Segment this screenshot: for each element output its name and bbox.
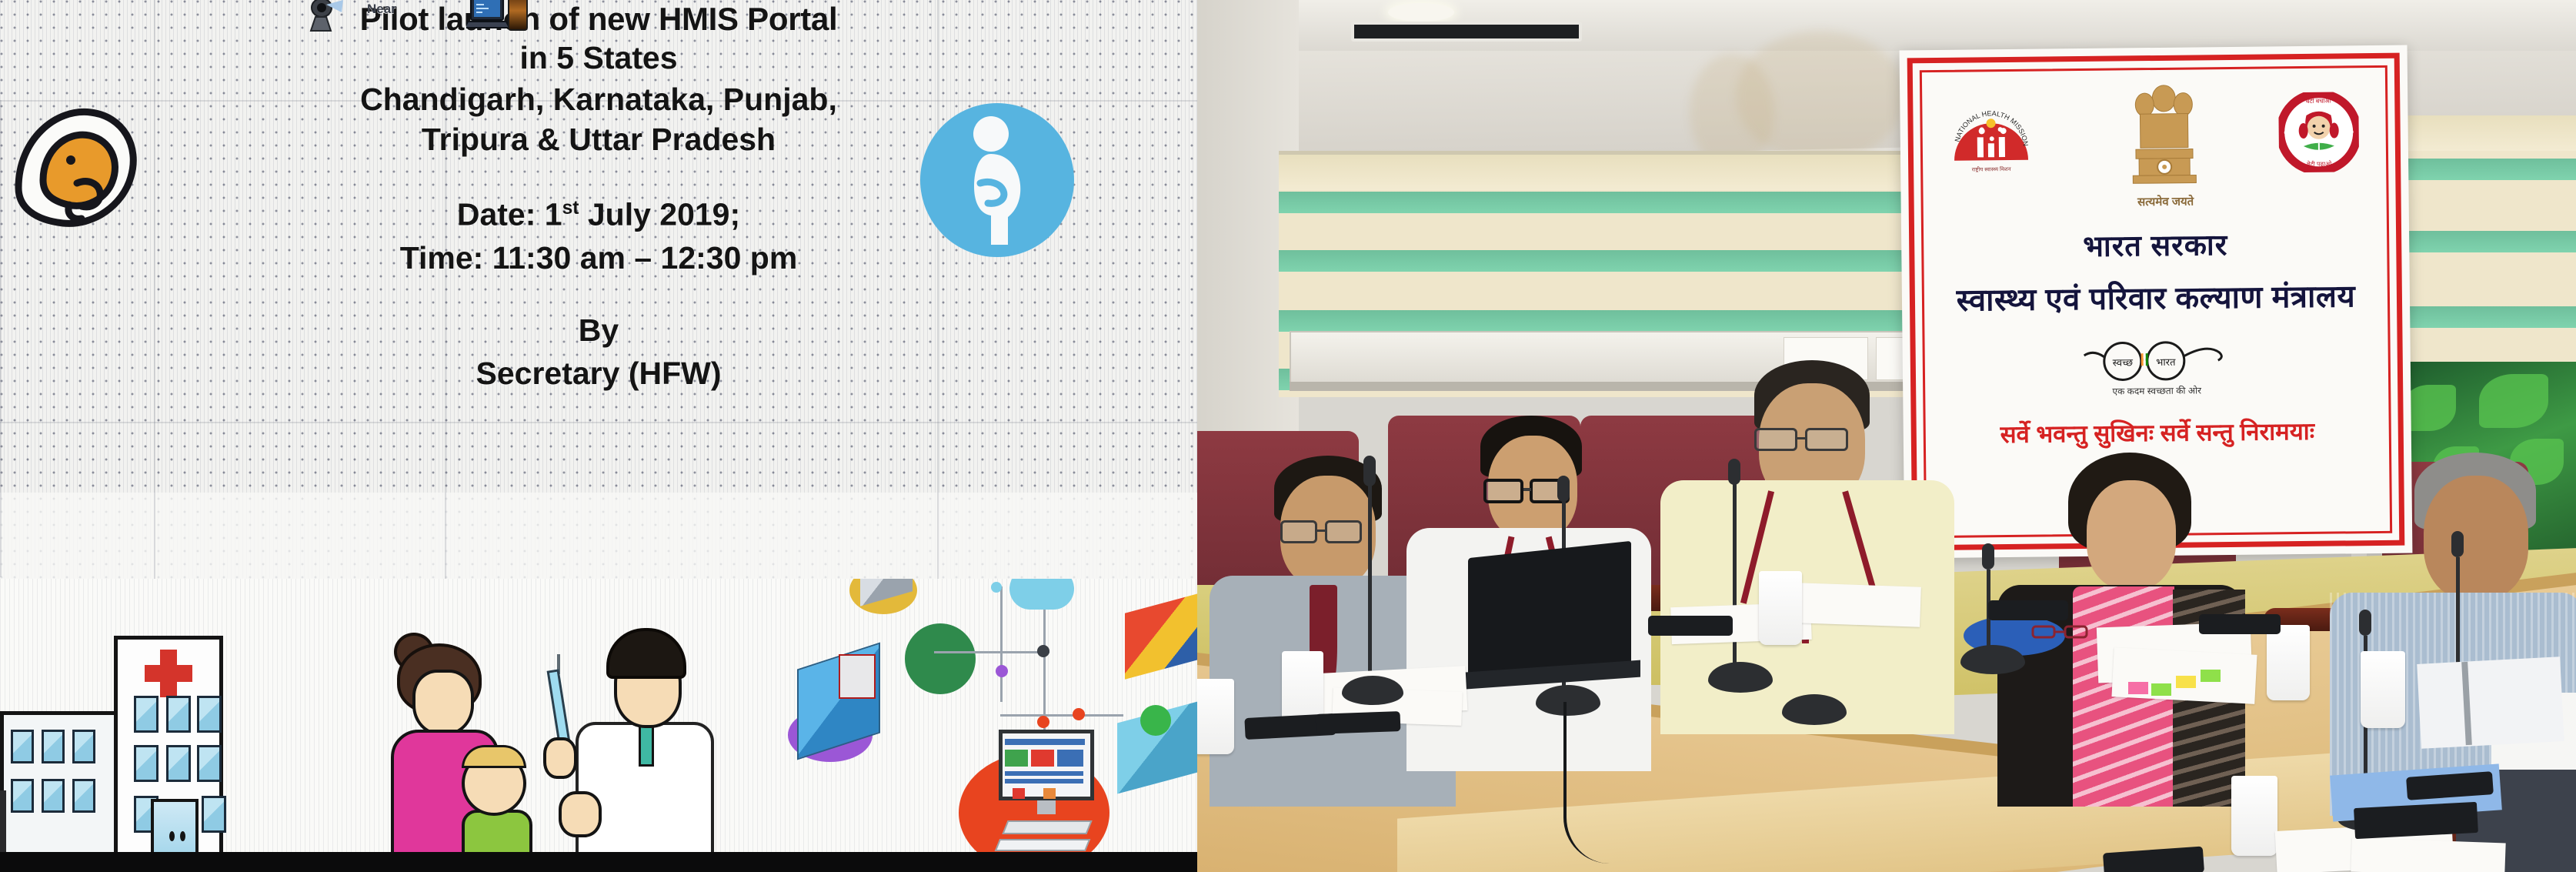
cloud-icon <box>1009 579 1074 610</box>
banner-shloka: सर्वे भवन्तु सुखिनः सर्वे सन्तु निरामयाः <box>1934 414 2381 451</box>
svg-text:राष्ट्रीय स्वास्थ्य मिशन: राष्ट्रीय स्वास्थ्य मिशन <box>1972 165 2011 173</box>
clipboard-icon <box>839 654 876 699</box>
microphone-base <box>1342 676 1403 705</box>
svg-text:बेटी पढ़ाओ: बेटी पढ़ाओ <box>2307 160 2332 168</box>
paper-cup <box>2361 651 2405 728</box>
swachh-bharat-logo: स्वच्छ भारत एक कदम स्वच्छता की ओर <box>1933 325 2380 414</box>
remote-control <box>2354 802 2478 839</box>
slide-by-person: Secretary (HFW) <box>0 356 1197 391</box>
printed-papers <box>1797 583 1921 627</box>
phone-icon <box>508 0 528 31</box>
slide-states-line1: Chandigarh, Karnataka, Punjab, <box>0 82 1197 117</box>
slide-text-block: Pilot launch of new HMIS Portal in 5 Sta… <box>0 0 1197 391</box>
microphone-stem <box>2456 557 2460 667</box>
microphone-head <box>1982 543 1994 570</box>
screen-seam <box>0 422 1197 423</box>
slide-date-line: Date: 1st July 2019; <box>0 191 1197 232</box>
mobile-phone <box>2199 614 2281 634</box>
laptop-icon <box>466 0 508 31</box>
screen-bottom-band <box>0 852 1197 872</box>
paper-cup <box>1759 571 1802 645</box>
national-health-mission-logo: राष्ट्रीय स्वास्थ्य मिशन NATIONAL HEALTH… <box>1947 94 2034 181</box>
ceiling-light <box>1388 3 1454 22</box>
banner-heading-government: भारत सरकार <box>1932 222 2379 267</box>
microphone-cable <box>1563 702 1671 864</box>
spiral-notebook <box>2417 657 2564 749</box>
banner-logo-row: राष्ट्रीय स्वास्थ्य मिशन NATIONAL HEALTH… <box>1930 76 2378 195</box>
microphone-head <box>2359 610 2371 636</box>
microphone-head <box>2451 531 2464 557</box>
svg-text:भारत: भारत <box>2156 356 2176 368</box>
svg-text:बेटी बचाओ: बेटी बचाओ <box>2306 97 2332 105</box>
eyeglasses <box>2031 623 2090 640</box>
slide-states-line2: Tripura & Uttar Pradesh <box>0 122 1197 157</box>
screenshot-root: Near Pilot launch of new HMIS Portal in … <box>0 0 2576 872</box>
microphone-stem <box>1733 483 1737 673</box>
near-label: Near <box>367 2 396 17</box>
mother-figure <box>412 670 474 736</box>
iso-green-disc <box>905 623 976 694</box>
spectacles-icon: स्वच्छ भारत <box>2079 332 2234 382</box>
state-emblem-of-india <box>2121 81 2207 197</box>
microphone-head <box>1728 459 1740 485</box>
slide-illustration <box>0 579 1197 872</box>
slide-by-label: By <box>0 312 1197 348</box>
doctor-hand <box>543 737 577 779</box>
microphone-stem <box>1368 483 1372 687</box>
webcam-icon <box>303 0 345 32</box>
microphone-base <box>1960 645 2025 674</box>
slide-title-line2: in 5 States <box>0 40 1197 75</box>
slide-time-line: Time: 11:30 am – 12:30 pm <box>0 240 1197 276</box>
keyboard-icon <box>1002 820 1092 834</box>
air-conditioner-vent <box>1351 22 1582 42</box>
printed-papers <box>2351 838 2505 872</box>
microphone-head <box>1557 476 1570 502</box>
red-cross-symbol <box>145 665 192 682</box>
presentation-slide-panel: Near Pilot launch of new HMIS Portal in … <box>0 0 1197 872</box>
date-superscript: st <box>562 198 579 219</box>
mobile-phone <box>1316 711 1401 734</box>
svg-text:स्वच्छ: स्वच्छ <box>2113 356 2134 368</box>
date-suffix: July 2019; <box>579 197 740 232</box>
conference-room-photo: राष्ट्रीय स्वास्थ्य मिशन NATIONAL HEALTH… <box>1197 0 2576 872</box>
paper-cup <box>1197 679 1234 754</box>
emblem-motto: सत्यमेव जयते <box>2111 193 2221 210</box>
slide-title-line1: Pilot launch of new HMIS Portal <box>0 0 1197 37</box>
paper-cup <box>2231 776 2277 856</box>
mobile-phone <box>1648 616 1733 636</box>
paper-cup <box>2267 625 2310 700</box>
doctor-hand <box>559 791 602 837</box>
banner-heading-ministry: स्वास्थ्य एवं परिवार कल्याण मंत्रालय <box>1933 273 2380 320</box>
mobile-phone <box>1988 600 2068 620</box>
microphone-head <box>1363 456 1376 486</box>
doctor-figure <box>639 725 654 767</box>
swachh-bharat-caption: एक कदम स्वच्छता की ओर <box>2112 383 2201 397</box>
date-prefix: Date: 1 <box>457 197 562 232</box>
keyboard-icon <box>995 839 1090 851</box>
green-cross-icon <box>1140 705 1171 736</box>
beti-bachao-beti-padhao-logo: बेटी बचाओ बेटी पढ़ाओ <box>2278 92 2359 172</box>
microphone-base <box>1708 662 1773 693</box>
microphone-base <box>1782 694 1847 725</box>
